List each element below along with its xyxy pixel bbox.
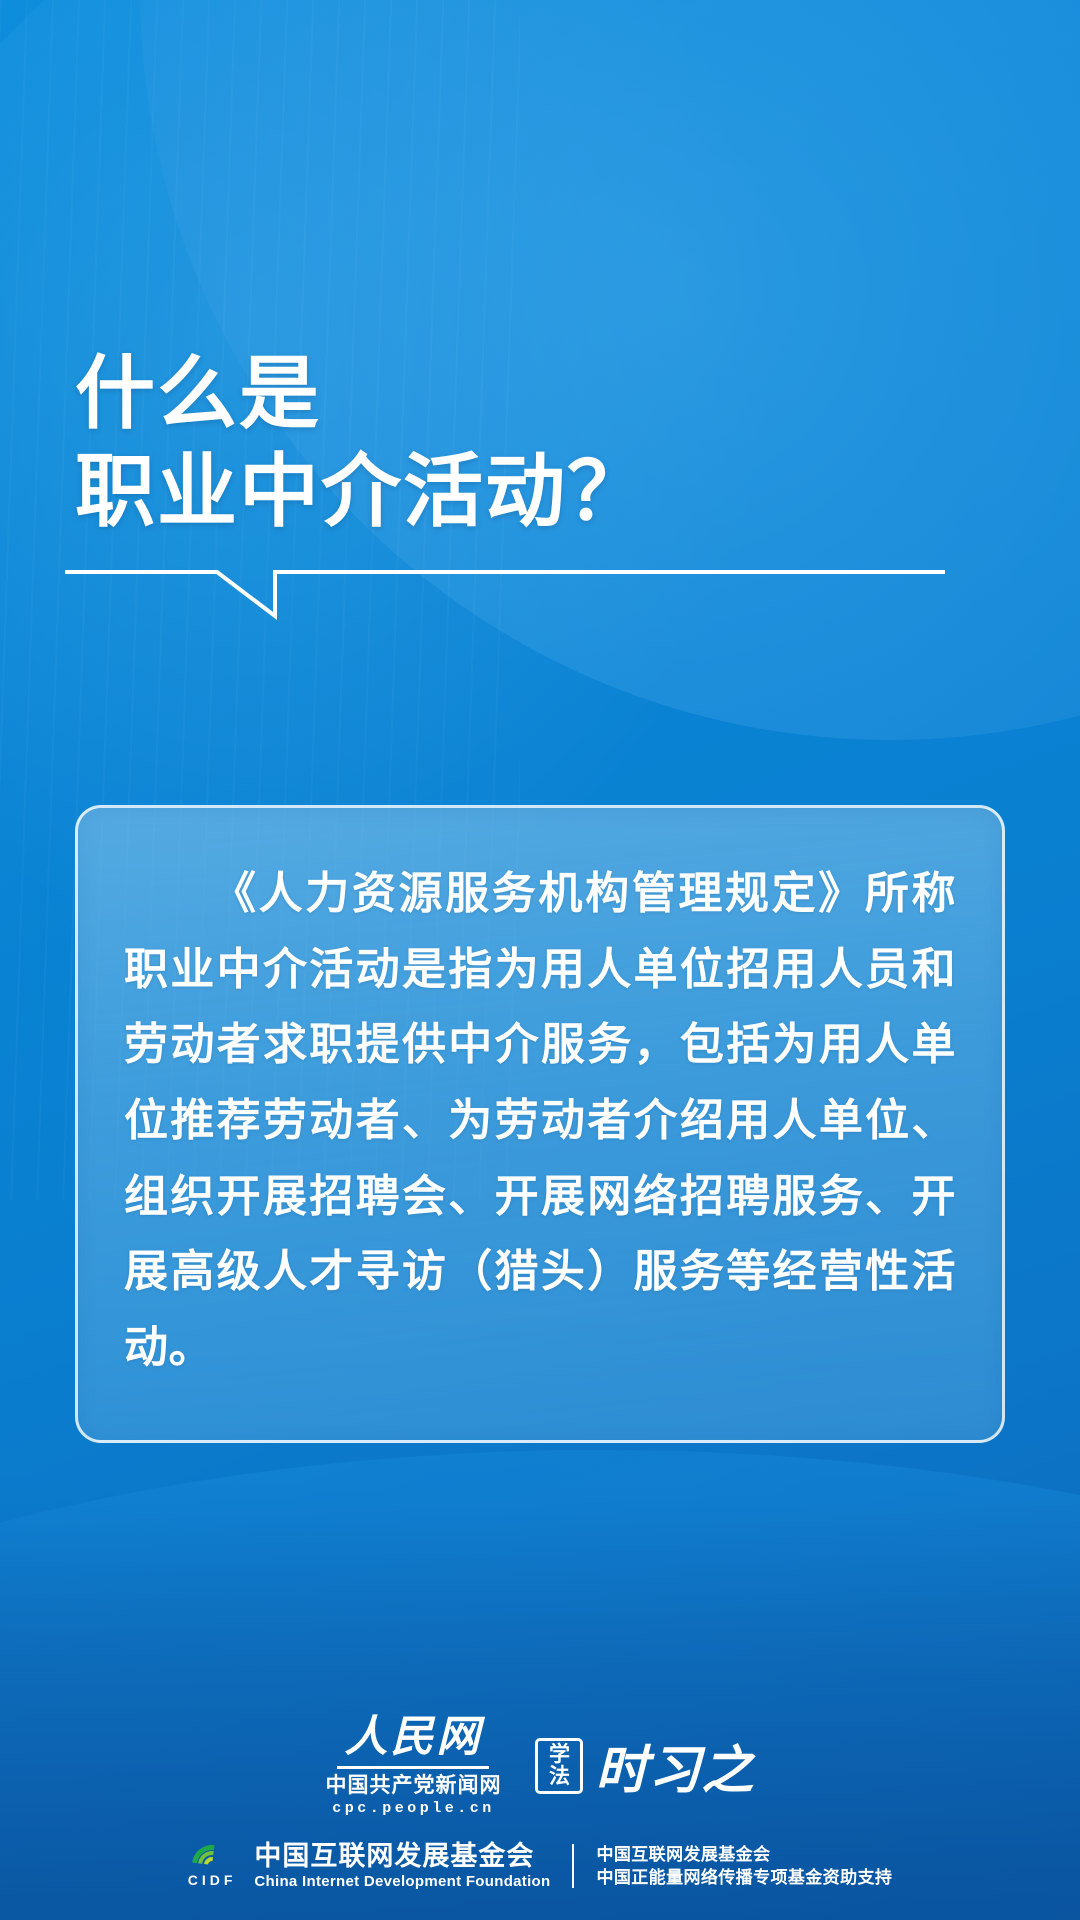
footer: 人民网 中国共产党新闻网 cpc.people.cn 学 法 时习之 CIDF … xyxy=(0,1716,1080,1920)
people-cn-url: cpc.people.cn xyxy=(332,1801,495,1816)
people-cn-script-label: 人民网 xyxy=(344,1716,482,1764)
definition-card: 《人力资源服务机构管理规定》所称职业中介活动是指为用人单位招用人员和劳动者求职提… xyxy=(75,805,1005,1443)
footer-brand-row: 人民网 中国共产党新闻网 cpc.people.cn 学 法 时习之 xyxy=(325,1716,754,1816)
title-underline-pointer-icon xyxy=(65,564,945,622)
page-title-line-2: 职业中介活动？ xyxy=(75,443,975,541)
xuefa-badge-bottom-char: 法 xyxy=(549,1766,570,1787)
people-cn-subtitle: 中国共产党新闻网 xyxy=(325,1775,501,1796)
cidf-support-block: 中国互联网发展基金会 中国正能量网络传播专项基金资助支持 xyxy=(596,1845,892,1887)
cidf-name-chinese: 中国互联网发展基金会 xyxy=(254,1842,550,1872)
people-cn-logo[interactable]: 人民网 中国共产党新闻网 cpc.people.cn xyxy=(325,1716,501,1816)
xuefa-badge-top-char: 学 xyxy=(549,1744,570,1765)
cidf-support-line-2: 中国正能量网络传播专项基金资助支持 xyxy=(596,1868,892,1887)
page-title-line-1: 什么是 xyxy=(75,345,975,443)
cidf-name-english: China Internet Development Foundation xyxy=(254,1874,550,1891)
page-title: 什么是 职业中介活动？ xyxy=(75,345,975,622)
xuefa-wordmark: 时习之 xyxy=(595,1728,754,1803)
cidf-support-line-1: 中国互联网发展基金会 xyxy=(596,1845,892,1864)
cidf-name-block: 中国互联网发展基金会 China Internet Development Fo… xyxy=(254,1842,550,1890)
cidf-divider xyxy=(572,1844,574,1888)
xuefa-badge-icon: 学 法 xyxy=(535,1738,583,1794)
xuefa-shixizhi-logo[interactable]: 学 法 时习之 xyxy=(535,1728,754,1803)
cidf-logo: CIDF xyxy=(188,1843,237,1888)
people-cn-divider xyxy=(337,1766,489,1769)
definition-card-text: 《人力资源服务机构管理规定》所称职业中介活动是指为用人单位招用人员和劳动者求职提… xyxy=(124,856,956,1386)
cidf-sponsor-bar: CIDF 中国互联网发展基金会 China Internet Developme… xyxy=(188,1842,893,1890)
cidf-arcs-icon xyxy=(190,1843,234,1869)
